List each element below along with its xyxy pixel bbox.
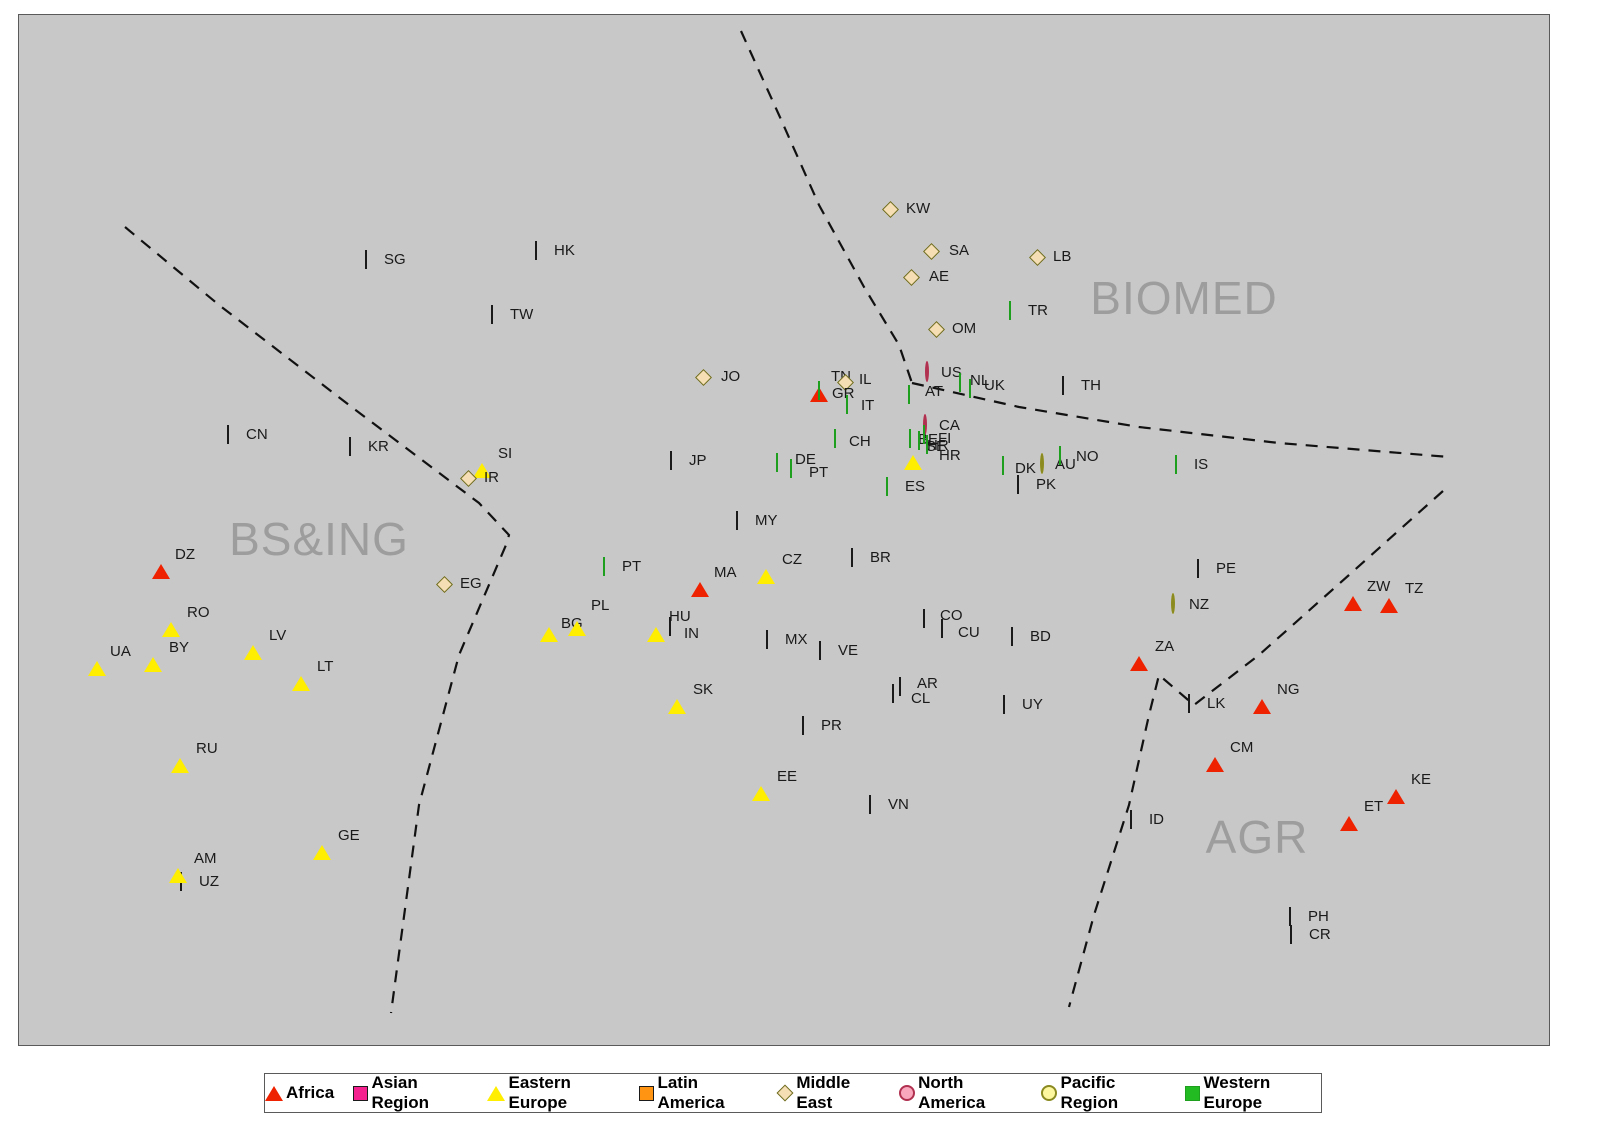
square-marker-icon [926,436,928,454]
square-marker-icon [899,678,901,696]
legend-label: Africa [286,1083,334,1103]
legend-label: Middle East [796,1073,880,1113]
point-label-in: IN [684,625,699,642]
diamond-marker-icon [923,243,940,260]
triangle-marker-icon [144,640,162,658]
point-label-ro: RO [187,604,210,621]
triangle-marker-icon [88,644,106,662]
triangle-marker-icon [752,769,770,787]
triangle-marker-icon [244,628,262,646]
point-label-ma: MA [714,564,737,581]
point-label-pl: PL [591,597,609,614]
point-label-ru: RU [196,740,218,757]
chart-stage: BIOMEDBS&INGAGR DZMATNZAZWTZNGCMKEETSGHK… [0,0,1600,1144]
region-label-agr: AGR [1206,810,1309,864]
diamond-marker-icon [903,269,920,286]
point-label-hk: HK [554,242,575,259]
diamond-marker-icon [882,201,899,218]
triangle-marker-icon [1130,639,1148,657]
square-marker-icon [851,549,853,567]
square-marker-icon [535,242,537,260]
square-marker-icon [1290,926,1292,944]
triangle-marker-icon [1387,772,1405,790]
square-marker-icon [1062,377,1064,395]
point-label-cm: CM [1230,739,1253,756]
point-label-jo: JO [721,368,740,385]
point-label-pt: PT [622,558,641,575]
legend-item-middle-east[interactable]: Middle East [776,1073,880,1113]
square-marker-icon [818,382,820,400]
legend-item-north-america[interactable]: North America [899,1073,1023,1113]
legend-item-pacific-region[interactable]: Pacific Region [1041,1073,1166,1113]
square-marker-icon [1002,457,1004,475]
legend-label: Pacific Region [1061,1073,1167,1113]
square-marker-icon [1175,456,1177,474]
chart-legend: AfricaAsian RegionEastern EuropeLatin Am… [264,1073,1322,1113]
legend-label: Eastern Europe [508,1073,620,1113]
square-marker-icon [1011,628,1013,646]
point-label-si: SI [498,445,512,462]
point-label-br: BR [870,549,891,566]
agr-boundary [1069,491,1443,1007]
diamond-legend-icon [776,1084,793,1102]
point-label-ph: PH [1308,908,1329,925]
point-label-ee: EE [777,768,797,785]
point-label-co: CO [940,607,963,624]
square-marker-icon [886,478,888,496]
square-marker-icon [1017,476,1019,494]
diamond-marker-icon [928,321,945,338]
square-marker-icon [959,374,961,392]
square-marker-icon [227,426,229,444]
triangle-marker-icon [757,552,775,570]
legend-item-western-europe[interactable]: Western Europe [1184,1073,1321,1113]
square-marker-icon [941,620,943,638]
square-marker-icon [1188,695,1190,713]
point-label-lk: LK [1207,695,1225,712]
point-label-my: MY [755,512,778,529]
point-label-pr: PR [821,717,842,734]
point-label-ke: KE [1411,771,1431,788]
point-label-pe: PE [1216,560,1236,577]
point-label-bd: BD [1030,628,1051,645]
triangle-marker-icon [691,565,709,583]
point-label-th: TH [1081,377,1101,394]
square-marker-icon [918,432,920,450]
triangle-legend-icon [265,1084,283,1102]
square-marker-icon [603,558,605,576]
square-marker-icon [869,796,871,814]
circle-marker-icon [1171,595,1175,613]
point-label-uy: UY [1022,696,1043,713]
triangle-marker-icon [473,446,491,464]
square-marker-icon [1003,696,1005,714]
square-marker-icon [736,512,738,530]
square-marker-icon [1197,560,1199,578]
point-label-uz: UZ [199,873,219,890]
square-marker-icon [892,685,894,703]
square-marker-icon [909,430,911,448]
square-marker-icon [802,717,804,735]
triangle-marker-icon [171,741,189,759]
square-marker-icon [908,386,910,404]
point-label-cu: CU [958,624,980,641]
triangle-marker-icon [169,851,187,869]
point-label-id: ID [1149,811,1164,828]
triangle-marker-icon [647,610,665,628]
point-label-tw: TW [510,306,533,323]
diamond-marker-icon [436,576,453,593]
legend-label: Western Europe [1204,1073,1321,1113]
point-label-sa: SA [949,242,969,259]
point-label-ve: VE [838,642,858,659]
circle-legend-icon [1041,1084,1057,1102]
point-label-lt: LT [317,658,333,675]
square-marker-icon [790,460,792,478]
point-label-il: IL [859,371,872,388]
legend-label: Asian Region [371,1073,469,1113]
point-label-cr: CR [1309,926,1331,943]
point-label-tr: TR [1028,302,1048,319]
point-label-ge: GE [338,827,360,844]
diamond-marker-icon [695,369,712,386]
point-label-ae: AE [929,268,949,285]
point-label-kw: KW [906,200,930,217]
square-marker-icon [349,438,351,456]
square-marker-icon [365,251,367,269]
square-marker-icon [766,631,768,649]
circle-marker-icon [1040,455,1044,473]
point-label-lb: LB [1053,248,1071,265]
square-marker-icon [670,452,672,470]
triangle-legend-icon [487,1084,505,1102]
square-marker-icon [923,426,925,444]
square-marker-icon [923,610,925,628]
point-label-ng: NG [1277,681,1300,698]
triangle-marker-icon [1206,740,1224,758]
point-label-dz: DZ [175,546,195,563]
square-marker-icon [969,380,971,398]
circle-legend-icon [899,1084,915,1102]
legend-label: North America [918,1073,1023,1113]
bsing-boundary [125,227,509,1013]
triangle-marker-icon [313,828,331,846]
point-label-it: IT [861,397,874,414]
triangle-marker-icon [1340,799,1358,817]
legend-item-africa[interactable]: Africa [265,1083,334,1103]
point-label-za: ZA [1155,638,1174,655]
square-marker-icon [776,454,778,472]
diamond-marker-icon [1029,249,1046,266]
triangle-marker-icon [1344,579,1362,597]
diamond-marker-icon [460,470,477,487]
triangle-marker-icon [152,547,170,565]
point-label-cl: CL [911,690,930,707]
point-label-fi: FI [938,430,951,447]
point-label-uk: UK [984,377,1005,394]
point-label-pt2: PT [809,464,828,481]
region-label-bsing: BS&ING [229,512,409,566]
triangle-marker-icon [568,604,586,622]
square-legend-icon [352,1084,368,1102]
point-label-cz: CZ [782,551,802,568]
triangle-marker-icon [1380,581,1398,599]
point-label-by: BY [169,639,189,656]
square-marker-icon [491,306,493,324]
point-label-gr: GR [832,385,855,402]
point-label-es: ES [905,478,925,495]
point-label-vn: VN [888,796,909,813]
square-legend-icon [638,1084,654,1102]
square-marker-icon [1009,302,1011,320]
point-label-tz: TZ [1405,580,1423,597]
square-marker-icon [819,642,821,660]
point-label-sk: SK [693,681,713,698]
triangle-marker-icon [162,605,180,623]
point-label-hr: HR [939,447,961,464]
point-label-is: IS [1194,456,1208,473]
point-label-et: ET [1364,798,1383,815]
legend-item-eastern-europe[interactable]: Eastern Europe [487,1073,620,1113]
point-label-lv: LV [269,627,286,644]
point-label-ir: IR [484,469,499,486]
legend-item-latin-america[interactable]: Latin America [638,1073,758,1113]
point-label-jp: JP [689,452,707,469]
point-label-at: AT [925,383,943,400]
point-label-eg: EG [460,575,482,592]
point-label-sg: SG [384,251,406,268]
square-marker-icon [846,396,848,414]
triangle-marker-icon [292,659,310,677]
point-label-ua: UA [110,643,131,660]
square-marker-icon [1130,811,1132,829]
region-label-biomed: BIOMED [1090,271,1277,325]
point-label-mx: MX [785,631,808,648]
triangle-marker-icon [540,610,558,628]
point-label-no: NO [1076,448,1099,465]
point-label-ch: CH [849,433,871,450]
square-legend-icon [1184,1084,1200,1102]
scatter-plot-area: BIOMEDBS&INGAGR DZMATNZAZWTZNGCMKEETSGHK… [18,14,1550,1046]
triangle-marker-icon [1253,682,1271,700]
biomed-right-boundary [912,383,1449,457]
legend-label: Latin America [657,1073,758,1113]
circle-marker-icon [925,363,929,381]
point-label-kr: KR [368,438,389,455]
point-label-nz: NZ [1189,596,1209,613]
point-label-hu: HU [669,608,691,625]
triangle-marker-icon [668,682,686,700]
square-marker-icon [1059,447,1061,465]
legend-item-asian-region[interactable]: Asian Region [352,1073,469,1113]
point-label-pk: PK [1036,476,1056,493]
point-label-am: AM [194,850,217,867]
square-marker-icon [834,430,836,448]
point-label-cn: CN [246,426,268,443]
square-marker-icon [1289,908,1291,926]
point-label-om: OM [952,320,976,337]
point-label-dk: DK [1015,460,1036,477]
